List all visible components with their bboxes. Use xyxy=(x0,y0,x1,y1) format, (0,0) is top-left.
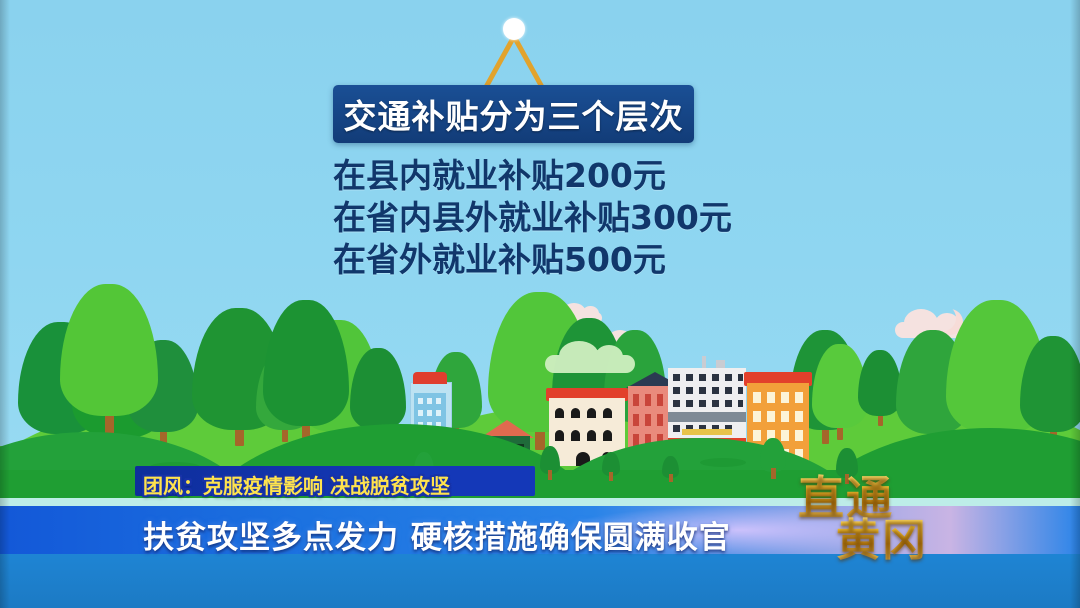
window xyxy=(418,410,423,416)
building-office-band xyxy=(668,412,746,422)
window xyxy=(673,425,680,432)
window-arch xyxy=(555,430,564,441)
headline-text: 扶贫攻坚多点发力 硬核措施确保圆满收官 xyxy=(143,512,731,557)
tree-crown xyxy=(350,348,406,430)
infographic-body: 在县内就业补贴200元 在省内县外就业补贴300元 在省外就业补贴500元 xyxy=(333,155,753,281)
window xyxy=(418,398,423,404)
window xyxy=(427,410,432,416)
window xyxy=(673,400,680,407)
window xyxy=(767,411,775,422)
window xyxy=(795,430,803,441)
edge-vignette-right xyxy=(1070,0,1080,608)
window xyxy=(633,414,639,426)
window xyxy=(738,400,743,407)
infographic-title-banner: 交通补贴分为三个层次 xyxy=(333,85,694,143)
window-arch xyxy=(571,430,580,441)
window xyxy=(738,374,743,381)
window xyxy=(657,394,663,406)
window xyxy=(795,411,803,422)
cloud-icon xyxy=(545,355,635,373)
window-arch xyxy=(587,408,596,418)
subtitle-text: 团风：克服疫情影响 决战脱贫攻坚 xyxy=(143,470,450,499)
tree-crown xyxy=(60,284,158,416)
window xyxy=(686,387,693,394)
window xyxy=(686,374,693,381)
window-arch xyxy=(587,430,596,441)
window xyxy=(645,414,651,426)
window xyxy=(725,387,732,394)
window xyxy=(645,394,651,406)
window xyxy=(712,400,719,407)
window xyxy=(712,387,719,394)
window xyxy=(753,392,761,403)
channel-logo-bottom: 黄冈 xyxy=(836,504,928,568)
infographic-line-3: 在省外就业补贴500元 xyxy=(333,239,753,281)
infographic-line-1: 在县内就业补贴200元 xyxy=(333,155,753,197)
window xyxy=(712,374,719,381)
window xyxy=(753,430,761,441)
window xyxy=(699,374,706,381)
window xyxy=(699,400,706,407)
window xyxy=(725,400,732,407)
window-arch xyxy=(603,408,612,418)
window xyxy=(781,392,789,403)
edge-vignette-left xyxy=(0,0,10,608)
tree-crown xyxy=(263,300,349,426)
window xyxy=(795,392,803,403)
channel-logo: 直通 黄冈 xyxy=(796,462,936,554)
tree xyxy=(263,300,349,446)
window xyxy=(673,374,680,381)
window xyxy=(633,394,639,406)
window-arch xyxy=(603,430,612,441)
sign-knob-icon xyxy=(503,18,525,40)
storefront-sign xyxy=(682,429,732,435)
window xyxy=(699,387,706,394)
window xyxy=(436,410,441,416)
window xyxy=(673,387,680,394)
window xyxy=(781,411,789,422)
window xyxy=(427,398,432,404)
window xyxy=(753,411,761,422)
infographic-line-2: 在省内县外就业补贴300元 xyxy=(333,197,753,239)
window xyxy=(686,400,693,407)
window xyxy=(436,398,441,404)
building-blue-tower-roof xyxy=(413,372,447,384)
window-arch xyxy=(571,408,580,418)
infographic-title: 交通补贴分为三个层次 xyxy=(344,90,684,138)
window xyxy=(738,387,743,394)
window xyxy=(767,392,775,403)
hill-texture xyxy=(700,458,746,467)
tree xyxy=(60,284,158,438)
window xyxy=(657,414,663,426)
broadcast-screenshot: 交通补贴分为三个层次 在县内就业补贴200元 在省内县外就业补贴300元 在省外… xyxy=(0,0,1080,608)
window xyxy=(725,374,732,381)
window-arch xyxy=(555,408,564,418)
window xyxy=(781,430,789,441)
